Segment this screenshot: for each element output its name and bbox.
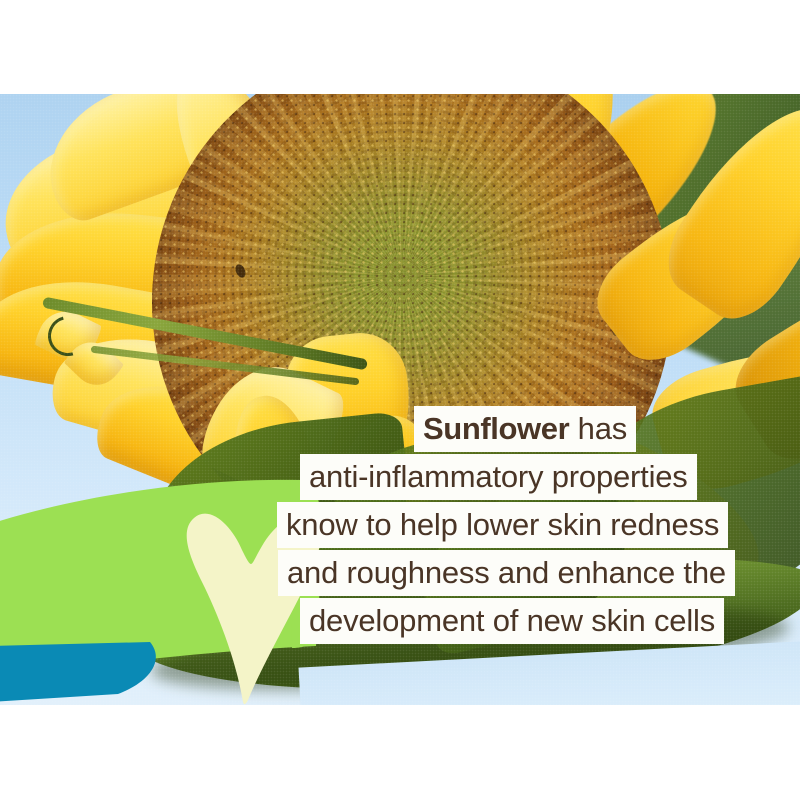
caption-text-block: Sunflower has anti-inflammatory properti… <box>277 406 797 646</box>
caption-line-1-rest: has <box>569 411 627 446</box>
caption-line-3: know to help lower skin redness <box>277 502 728 548</box>
image-card: Sunflower has anti-inflammatory properti… <box>0 0 800 800</box>
caption-line-5: development of new skin cells <box>300 598 724 644</box>
caption-line-1: Sunflower has <box>414 406 636 452</box>
caption-bold-word: Sunflower <box>423 411 569 446</box>
caption-line-4: and roughness and enhance the <box>278 550 735 596</box>
caption-line-2: anti-inflammatory properties <box>300 454 697 500</box>
